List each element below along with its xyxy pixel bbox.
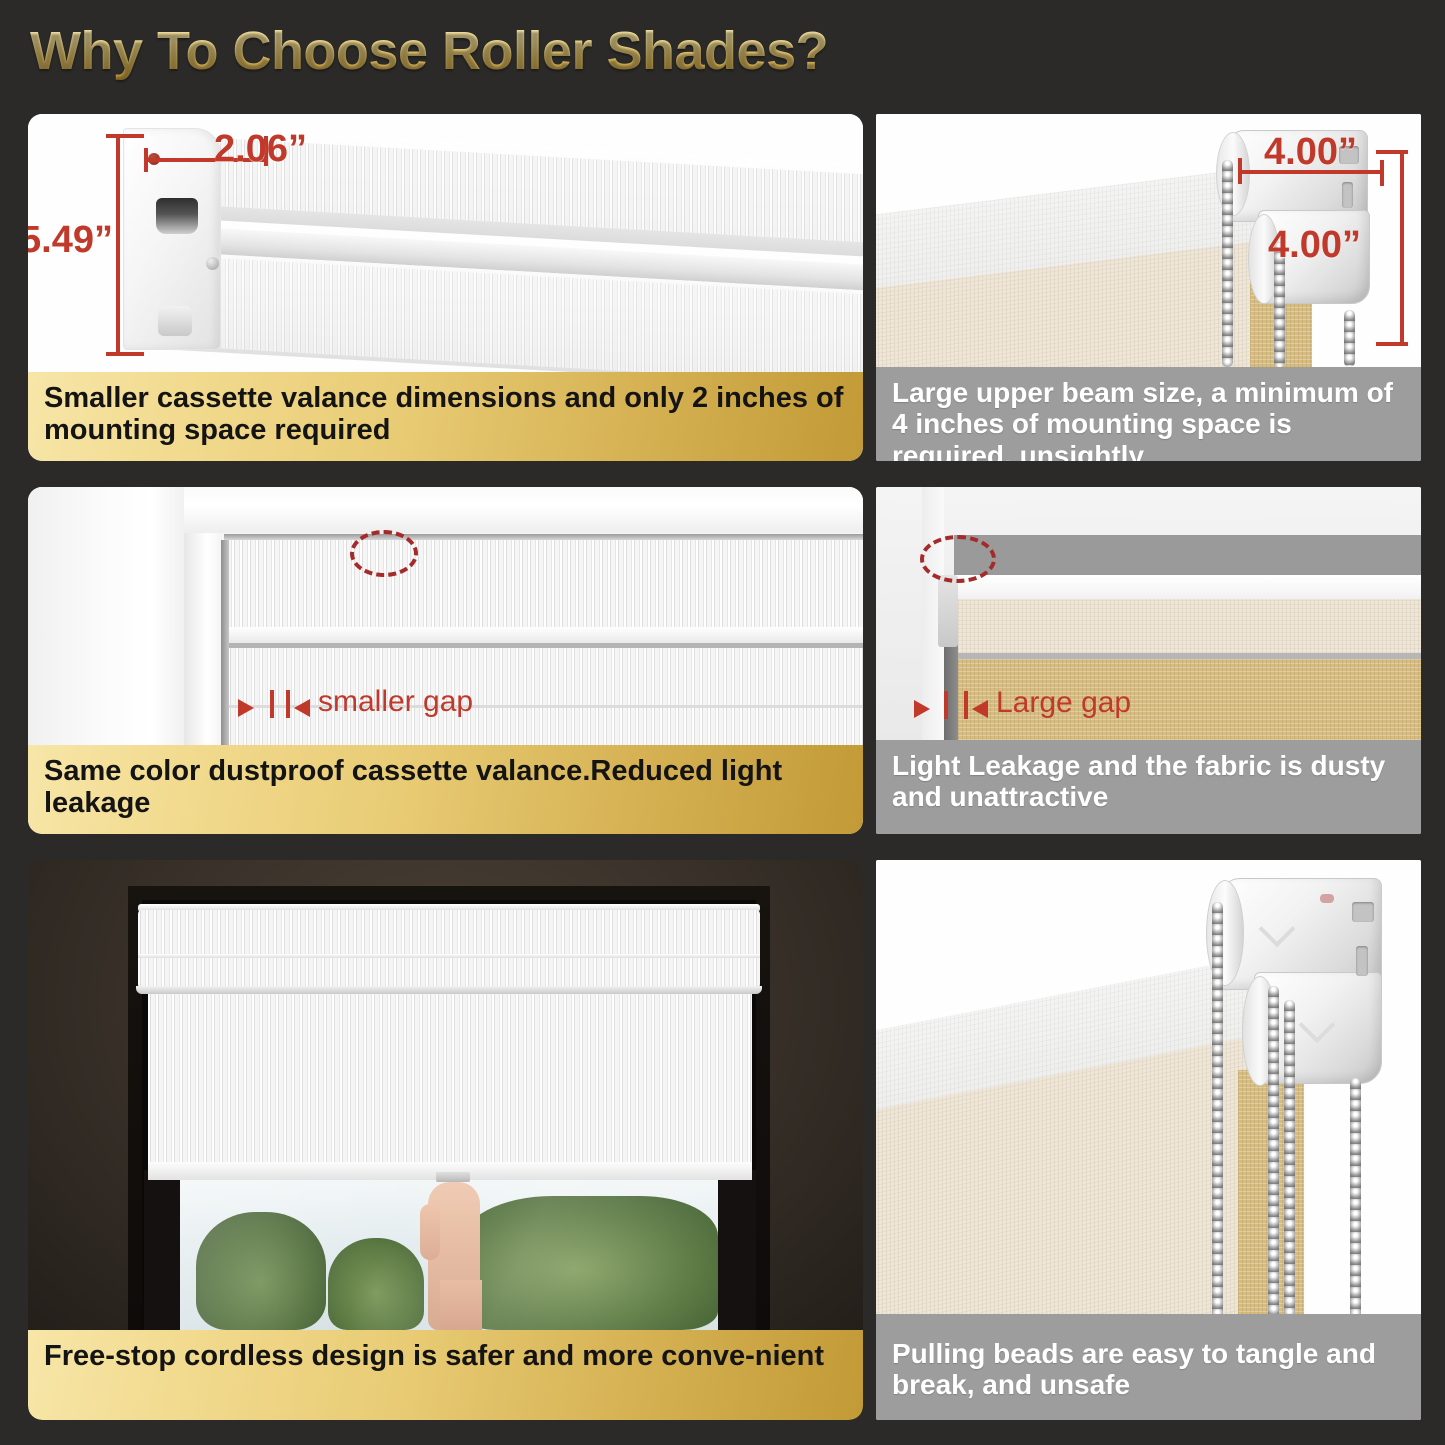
side-bracket	[938, 575, 958, 647]
dim-5-49-bar	[116, 134, 120, 356]
gap-edge-tick-b	[964, 691, 968, 719]
window-mullion-left	[144, 1170, 180, 1330]
panel-3-photo: smaller gap	[28, 487, 863, 745]
panel-3-caption: Same color dustproof cassette valance.Re…	[28, 745, 863, 834]
end-cap-pin	[158, 306, 192, 336]
floor-shadow-band	[876, 1314, 1421, 1328]
panel-light-leakage: Large gap Light Leakage and the fabric i…	[876, 487, 1421, 834]
dim-4-00-v-label: 4.00”	[1268, 224, 1361, 267]
panel-1-caption-text: Smaller cassette valance dimensions and …	[44, 382, 847, 447]
gap-edge-tick-a	[944, 691, 948, 719]
end-cap-screw-lower	[206, 257, 219, 270]
smaller-gap-label: smaller gap	[318, 685, 473, 719]
panel-6-photo	[876, 860, 1421, 1328]
thumb	[420, 1204, 440, 1260]
page-title: Why To Choose Roller Shades?	[30, 20, 828, 82]
panel-6-caption-text: Pulling beads are easy to tangle and bre…	[892, 1338, 1405, 1401]
dim-5-49-label: 5.49”	[28, 219, 113, 262]
window-mullion-right	[718, 1170, 756, 1330]
bead-chain-inner	[1284, 1000, 1295, 1328]
panel-2-caption: Large upper beam size, a minimum of 4 in…	[876, 367, 1421, 461]
dim-2-06-label: 2.06”	[214, 128, 307, 171]
panel-2-photo: 4.00” 4.00”	[876, 114, 1421, 367]
bead-chain-left	[1212, 902, 1223, 1328]
gap-edge-tick-a	[270, 690, 274, 718]
bracket-slot-top	[1352, 902, 1374, 922]
panel-pulling-beads: Pulling beads are easy to tangle and bre…	[876, 860, 1421, 1420]
gap-edge-tick-b	[286, 690, 290, 718]
dim-4-00-h-tick-left	[1238, 158, 1242, 184]
panel-4-caption-text: Light Leakage and the fabric is dusty an…	[892, 750, 1405, 813]
gap-arrow-pointing-left	[972, 700, 988, 718]
gap-arrow-pointing-left	[294, 699, 310, 717]
panel-large-upper-beam: 4.00” 4.00” Large upper beam size, a min…	[876, 114, 1421, 461]
gap-strip	[221, 540, 229, 745]
panel-3-caption-text: Same color dustproof cassette valance.Re…	[44, 755, 847, 820]
panel-5-caption: Free-stop cordless design is safer and m…	[28, 1330, 863, 1420]
panel-cordless-design: Free-stop cordless design is safer and m…	[28, 860, 863, 1420]
cassette-valance-face	[224, 540, 863, 634]
forearm	[440, 1280, 482, 1330]
dim-2-06-tick-left	[144, 148, 148, 172]
panel-6-caption: Pulling beads are easy to tangle and bre…	[876, 1328, 1421, 1420]
gap-arrow-pointing-right	[238, 699, 254, 717]
headrail-bottom-edge	[136, 986, 762, 994]
pull-tab	[436, 1172, 470, 1182]
dim-4-00-v-tick-bottom	[1376, 342, 1408, 346]
window-frame-top	[184, 487, 863, 533]
dim-4-00-h-label: 4.00”	[1264, 131, 1357, 174]
shade-fabric-cream-band	[958, 599, 1421, 657]
gap-highlight-circle	[920, 535, 996, 583]
panel-1-photo: 2.06” 5.49”	[28, 114, 863, 372]
bracket-screw-dot	[1320, 894, 1334, 903]
bracket-slot-mid	[1342, 182, 1353, 208]
panel-2-caption-text: Large upper beam size, a minimum of 4 in…	[892, 377, 1405, 461]
large-gap-label: Large gap	[996, 686, 1131, 720]
bead-chain-left	[1222, 160, 1233, 367]
shade-fabric	[148, 994, 752, 1180]
ceiling-shadow-band	[954, 535, 1421, 579]
panel-5-caption-text: Free-stop cordless design is safer and m…	[44, 1340, 824, 1372]
dim-5-49-tick-top	[106, 134, 144, 138]
panel-5-photo	[28, 860, 863, 1330]
dim-4-00-v-bar	[1400, 150, 1404, 346]
dim-4-00-h-tick-right	[1380, 160, 1384, 186]
bracket-slot-mid	[1356, 946, 1368, 976]
cassette-headrail	[138, 910, 760, 958]
window-frame-left	[28, 487, 194, 745]
bead-chain-right	[1350, 1078, 1361, 1328]
panel-4-photo: Large gap	[876, 487, 1421, 740]
dim-5-49-tick-bottom	[106, 352, 144, 356]
gap-highlight-circle	[350, 530, 418, 577]
infographic-page: Why To Choose Roller Shades?	[0, 0, 1445, 1445]
panel-dustproof-valance: smaller gap Same color dustproof cassett…	[28, 487, 863, 834]
panel-1-caption: Smaller cassette valance dimensions and …	[28, 372, 863, 461]
bead-chain-right	[1344, 310, 1355, 367]
panel-smaller-cassette: 2.06” 5.49” Smaller cassette valance dim…	[28, 114, 863, 461]
end-cap-chain-port	[156, 198, 198, 234]
gap-arrow-pointing-right	[914, 700, 930, 718]
bead-chain-mid	[1268, 986, 1279, 1328]
dim-4-00-v-tick-top	[1376, 150, 1408, 154]
panel-4-caption: Light Leakage and the fabric is dusty an…	[876, 740, 1421, 834]
